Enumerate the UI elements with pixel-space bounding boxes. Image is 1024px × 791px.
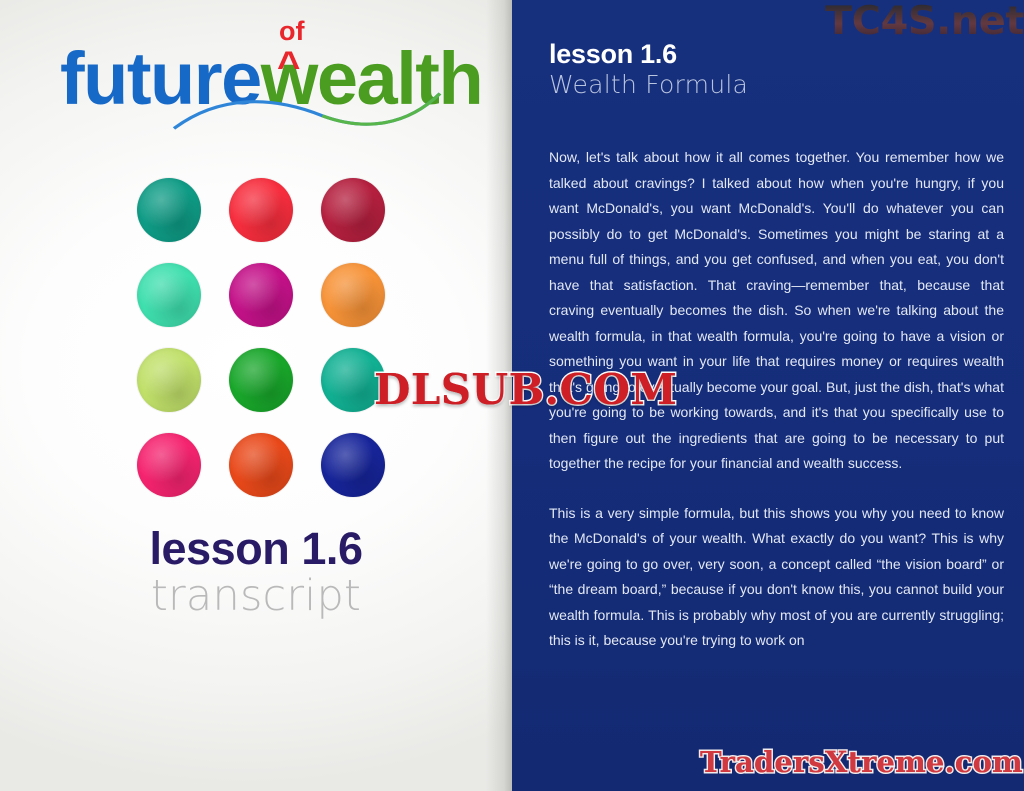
lesson-subtitle: Wealth Formula	[549, 71, 748, 100]
cover-subtitle: transcript	[0, 574, 512, 619]
watermark-tc4s-wrap: TC4S.net	[825, 2, 1024, 41]
cover-lesson-title: lesson 1.6	[0, 525, 512, 572]
dot-vermilion	[229, 433, 293, 497]
dot-cell	[125, 337, 213, 422]
page-root: futurewealth of ^ lesson 1.6	[0, 0, 1024, 791]
transcript-paragraph: This is a very simple formula, but this …	[549, 501, 1004, 654]
dot-cell	[125, 167, 213, 252]
dot-crimson	[321, 178, 385, 242]
dot-teal	[137, 178, 201, 242]
dot-magenta	[229, 263, 293, 327]
watercolor-dot-grid	[125, 167, 397, 507]
watermark-dlsub: DLSUB.COM	[374, 369, 677, 411]
lesson-title: lesson 1.6	[549, 40, 748, 70]
logo-word-of: of	[279, 18, 304, 45]
dot-mint	[137, 263, 201, 327]
dot-cell	[125, 422, 213, 507]
dot-pink	[137, 433, 201, 497]
transcript-paragraph: Now, let's talk about how it all comes t…	[549, 145, 1004, 477]
logo-word-future: future	[60, 37, 261, 120]
dot-lime	[137, 348, 201, 412]
dot-cell	[125, 252, 213, 337]
brand-logo-primary: futurewealth of ^	[60, 42, 482, 116]
logo-caret-icon: ^	[277, 46, 300, 86]
lesson-header: lesson 1.6 Wealth Formula	[549, 40, 748, 99]
dot-cell	[309, 167, 397, 252]
watermark-tradersxtreme: TradersXtreme.com	[700, 748, 1023, 777]
dot-cell	[217, 422, 305, 507]
dot-red	[229, 178, 293, 242]
dot-cell	[309, 422, 397, 507]
dot-cell	[217, 167, 305, 252]
cover-title-block: lesson 1.6 transcript	[0, 525, 512, 619]
dot-cell	[217, 337, 305, 422]
dot-orange	[321, 263, 385, 327]
dot-navy	[321, 433, 385, 497]
dot-green	[229, 348, 293, 412]
watermark-tc4s: TC4S.net	[825, 2, 1024, 41]
dot-cell	[309, 252, 397, 337]
dot-cell	[217, 252, 305, 337]
